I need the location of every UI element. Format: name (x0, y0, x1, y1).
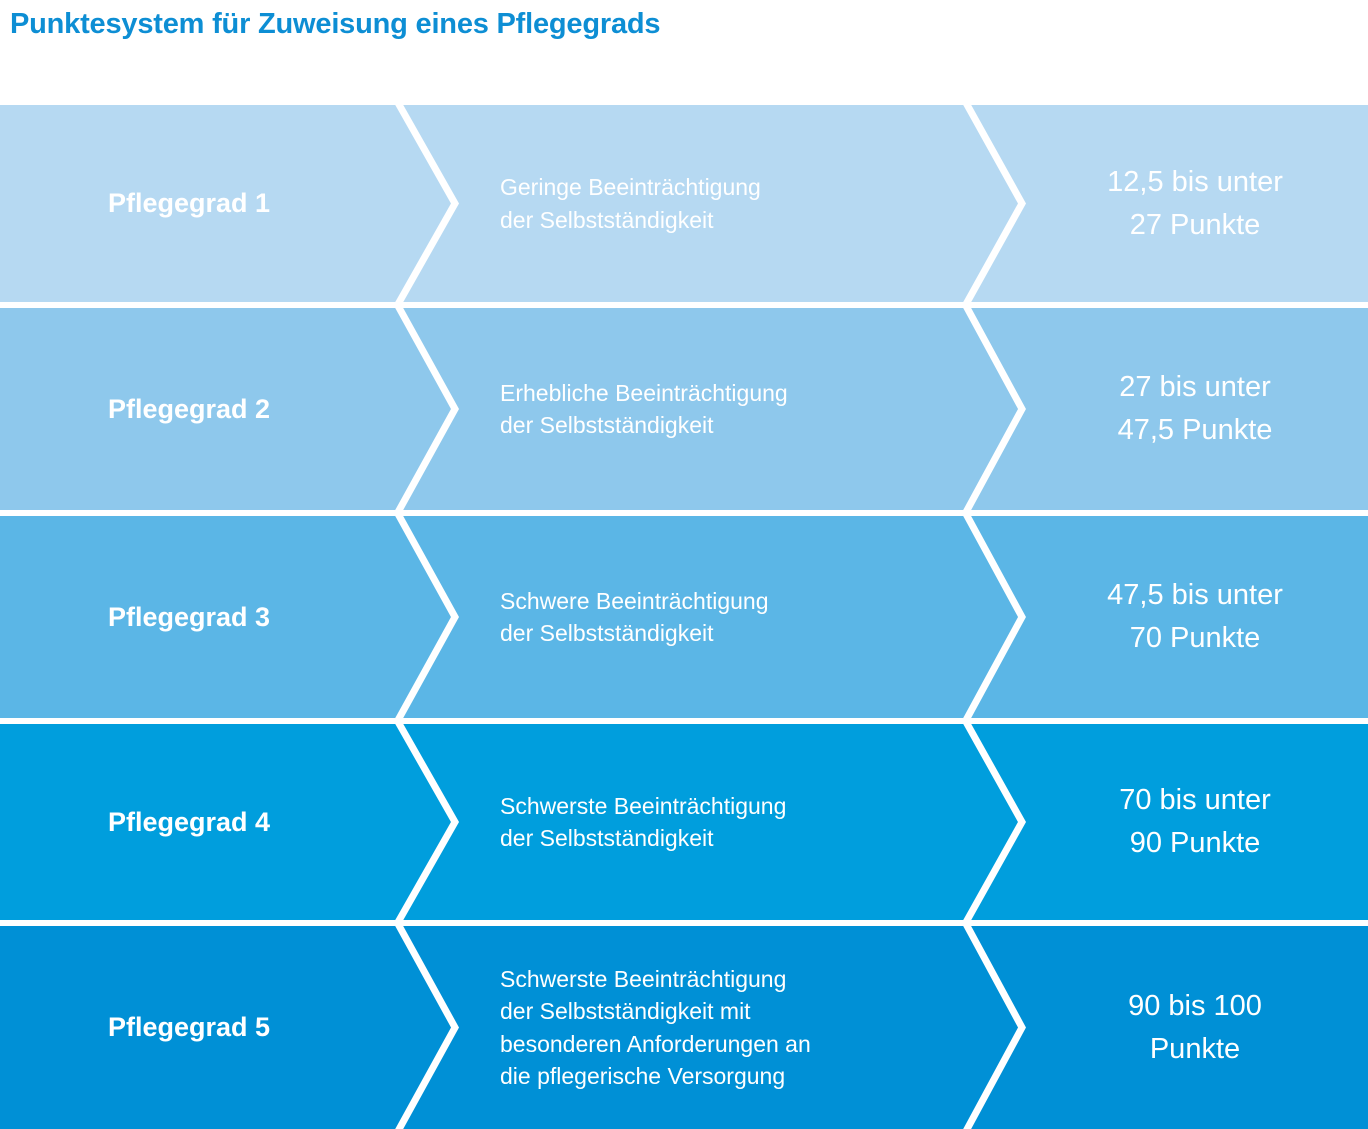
description-line: Geringe Beeinträchtigung (500, 171, 950, 203)
pflegegrad-label: Pflegegrad 3 (108, 516, 388, 718)
points-range: 12,5 bis unter27 Punkte (1035, 105, 1355, 302)
points-line: 27 bis unter (1119, 366, 1271, 409)
description-line: Erhebliche Beeinträchtigung (500, 377, 950, 409)
points-line: 70 Punkte (1130, 617, 1261, 660)
pflegegrad-label: Pflegegrad 1 (108, 105, 388, 302)
pflegegrad-band[interactable]: Pflegegrad 5Schwerste Beeinträchtigungde… (0, 926, 1368, 1129)
pflegegrad-band[interactable]: Pflegegrad 4Schwerste Beeinträchtigungde… (0, 724, 1368, 920)
description-line: der Selbstständigkeit (500, 617, 950, 649)
description-line: der Selbstständigkeit (500, 204, 950, 236)
points-line: 12,5 bis unter (1107, 161, 1283, 204)
pflegegrad-label: Pflegegrad 2 (108, 308, 388, 510)
pflegegrad-label: Pflegegrad 4 (108, 724, 388, 920)
pflegegrad-band[interactable]: Pflegegrad 3Schwere Beeinträchtigungder … (0, 516, 1368, 718)
impairment-description: Schwerste Beeinträchtigungder Selbststän… (500, 926, 950, 1129)
description-line: der Selbstständigkeit mit (500, 995, 950, 1027)
points-line: 27 Punkte (1130, 204, 1261, 247)
page-title: Punktesystem für Zuweisung eines Pflegeg… (10, 8, 660, 41)
infographic-page: Punktesystem für Zuweisung eines Pflegeg… (0, 0, 1368, 1117)
pflegegrad-label: Pflegegrad 5 (108, 926, 388, 1129)
impairment-description: Geringe Beeinträchtigungder Selbstständi… (500, 105, 950, 302)
description-line: die pflegerische Versorgung (500, 1060, 950, 1092)
points-line: 47,5 Punkte (1118, 409, 1273, 452)
description-line: Schwerste Beeinträchtigung (500, 790, 950, 822)
impairment-description: Schwerste Beeinträchtigungder Selbststän… (500, 724, 950, 920)
points-range: 90 bis 100Punkte (1035, 926, 1355, 1129)
pflegegrad-band[interactable]: Pflegegrad 2Erhebliche Beeinträchtigungd… (0, 308, 1368, 510)
points-range: 70 bis unter90 Punkte (1035, 724, 1355, 920)
description-line: der Selbstständigkeit (500, 409, 950, 441)
points-line: 70 bis unter (1119, 779, 1271, 822)
pflegegrad-band-list: Pflegegrad 1Geringe Beeinträchtigungder … (0, 105, 1368, 1117)
points-line: 90 bis 100 (1128, 985, 1262, 1028)
points-line: 90 Punkte (1130, 822, 1261, 865)
impairment-description: Erhebliche Beeinträchtigungder Selbststä… (500, 308, 950, 510)
points-range: 27 bis unter47,5 Punkte (1035, 308, 1355, 510)
pflegegrad-band[interactable]: Pflegegrad 1Geringe Beeinträchtigungder … (0, 105, 1368, 302)
description-line: der Selbstständigkeit (500, 822, 950, 854)
description-line: besonderen Anforderungen an (500, 1028, 950, 1060)
impairment-description: Schwere Beeinträchtigungder Selbstständi… (500, 516, 950, 718)
points-line: 47,5 bis unter (1107, 574, 1283, 617)
description-line: Schwere Beeinträchtigung (500, 585, 950, 617)
points-range: 47,5 bis unter70 Punkte (1035, 516, 1355, 718)
points-line: Punkte (1150, 1028, 1240, 1071)
description-line: Schwerste Beeinträchtigung (500, 963, 950, 995)
